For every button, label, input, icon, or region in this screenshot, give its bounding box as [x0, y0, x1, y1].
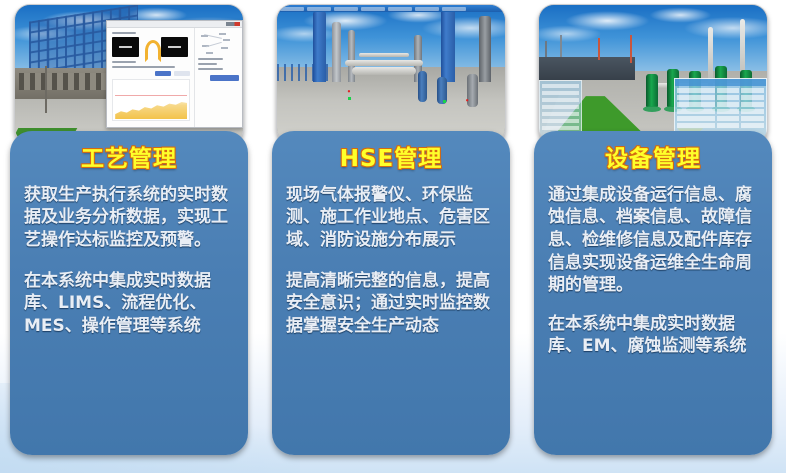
- dashboard-side-column: [194, 28, 241, 127]
- three-card-deck: 工艺管理 获取生产执行系统的实时数据及业务分析数据，实现工艺操作达标监控及预警。…: [0, 0, 786, 473]
- smoke-stack: [598, 38, 600, 60]
- horizontal-pipe: [345, 60, 423, 66]
- panel-row: [542, 98, 579, 102]
- reset-button[interactable]: [174, 71, 190, 76]
- cell: [717, 88, 740, 93]
- process-management-thumbnail[interactable]: [14, 4, 244, 144]
- filter-row-label: [112, 66, 175, 68]
- card-body: 现场气体报警仪、环保监测、施工作业地点、危害区域、消防设施分布展示 提高清晰完整…: [286, 184, 496, 338]
- card-title: 设备管理: [548, 145, 758, 174]
- kpi-tile: [112, 37, 139, 57]
- panel-row: [542, 105, 579, 109]
- card-hse-management[interactable]: ● ● HSE管理 现场气体报警仪、环保监测、施工作业地点、危害区域、消防设施: [272, 0, 510, 473]
- status-dot-green: [443, 100, 446, 103]
- chart-area-series: [115, 96, 187, 119]
- scene-toolbar[interactable]: [277, 5, 505, 12]
- side-label: [198, 68, 222, 70]
- table-row: [677, 88, 764, 93]
- equipment-management-thumbnail[interactable]: [538, 4, 768, 144]
- hse-management-thumbnail[interactable]: ● ●: [276, 4, 506, 144]
- cell: [677, 102, 715, 107]
- toolbar-item[interactable]: [334, 7, 358, 11]
- table-row: [677, 95, 764, 100]
- cell: [717, 102, 740, 107]
- cell: [741, 116, 764, 121]
- scene-3d-plant-with-dashboard: [15, 5, 243, 143]
- alarm-tag: ●: [348, 89, 351, 93]
- storage-tank: [418, 71, 427, 101]
- toolbar-item[interactable]: [307, 7, 331, 11]
- node: [202, 45, 209, 47]
- toolbar-item[interactable]: [415, 7, 439, 11]
- card-paragraph: 在本系统中集成实时数据库、EM、腐蚀监测等系统: [548, 313, 758, 358]
- node: [223, 39, 230, 41]
- green-pump-unit: [646, 74, 658, 107]
- card-paragraph: 提高清晰完整的信息，提高安全意识；通过实时监控数据掌握安全生产动态: [286, 270, 496, 338]
- window-body: [107, 28, 242, 127]
- cell: [677, 123, 715, 128]
- kpi-tile: [161, 37, 188, 57]
- smoke-stack: [630, 35, 632, 63]
- kpi-tile-row: [112, 37, 190, 57]
- table-row: [677, 109, 764, 114]
- side-primary-button[interactable]: [210, 75, 238, 81]
- network-node-diagram: [198, 32, 238, 58]
- alarm-tag: ●: [466, 98, 469, 102]
- toolbar-item[interactable]: [388, 7, 412, 11]
- side-label: [198, 63, 216, 65]
- card-body: 通过集成设备运行信息、腐蚀信息、档案信息、故障信息、检维修信息及配件库存信息实现…: [548, 184, 758, 358]
- gray-column: [332, 22, 341, 83]
- card-process-management[interactable]: 工艺管理 获取生产执行系统的实时数据及业务分析数据，实现工艺操作达标监控及预警。…: [10, 0, 248, 473]
- cell: [741, 109, 764, 114]
- node: [201, 35, 208, 37]
- toolbar-item[interactable]: [442, 7, 466, 11]
- cell: [717, 109, 740, 114]
- storage-tank: [467, 74, 478, 107]
- scene-3d-pumps-with-table: [539, 5, 767, 143]
- filter-button-row[interactable]: [112, 71, 190, 76]
- card-paragraph: 现场气体报警仪、环保监测、施工作业地点、危害区域、消防设施分布展示: [286, 184, 496, 252]
- horizontal-pipe: [359, 53, 409, 57]
- card-title: 工艺管理: [24, 145, 234, 174]
- side-label: [198, 58, 222, 60]
- cell: [741, 88, 764, 93]
- cell: [677, 109, 715, 114]
- toolbar-item[interactable]: [361, 7, 385, 11]
- cell: [717, 123, 740, 128]
- table-header: [675, 79, 766, 86]
- distillation-tower: [313, 11, 326, 83]
- trend-chart: [112, 79, 190, 121]
- table-row: [677, 102, 764, 107]
- process-management-panel: 工艺管理 获取生产执行系统的实时数据及业务分析数据，实现工艺操作达标监控及预警。…: [10, 131, 248, 455]
- panel-row: [542, 91, 579, 95]
- panel-row: [542, 112, 579, 116]
- card-paragraph: 在本系统中集成实时数据库、LIMS、流程优化、MES、操作管理等系统: [24, 270, 234, 338]
- dashboard-window[interactable]: [106, 20, 243, 128]
- cell: [677, 116, 715, 121]
- table-row: [677, 116, 764, 121]
- panel-row: [542, 126, 579, 130]
- equipment-management-panel: 设备管理 通过集成设备运行信息、腐蚀信息、档案信息、故障信息、检维修信息及配件库…: [534, 131, 772, 455]
- card-title: HSE管理: [286, 145, 496, 174]
- status-dot-green: [348, 97, 351, 100]
- panel-row: [542, 119, 579, 123]
- cell: [717, 95, 740, 100]
- card-body: 获取生产执行系统的实时数据及业务分析数据，实现工艺操作达标监控及预警。 在本系统…: [24, 184, 234, 338]
- card-paragraph: 通过集成设备运行信息、腐蚀信息、档案信息、故障信息、检维修信息及配件库存信息实现…: [548, 184, 758, 297]
- distillation-tower: [441, 5, 455, 82]
- window-titlebar: [107, 21, 242, 28]
- apply-button[interactable]: [155, 71, 171, 76]
- cell: [677, 88, 715, 93]
- cell: [717, 116, 740, 121]
- cell: [741, 95, 764, 100]
- cell: [741, 102, 764, 107]
- section-label: [112, 32, 135, 34]
- card-equipment-management[interactable]: 设备管理 通过集成设备运行信息、腐蚀信息、档案信息、故障信息、检维修信息及配件库…: [534, 0, 772, 473]
- cell: [741, 123, 764, 128]
- table-row: [677, 123, 764, 128]
- light-pole: [45, 66, 47, 113]
- cell: [677, 95, 715, 100]
- panel-row: [542, 84, 579, 88]
- scene-3d-refinery: ● ●: [277, 5, 505, 143]
- section-label: [112, 61, 135, 63]
- hse-management-panel: HSE管理 现场气体报警仪、环保监测、施工作业地点、危害区域、消防设施分布展示 …: [272, 131, 510, 455]
- gray-vessel: [479, 16, 491, 82]
- horizontal-vessel: [352, 67, 416, 75]
- node: [221, 47, 228, 49]
- dashboard-main-column: [107, 28, 194, 127]
- node: [206, 52, 213, 54]
- node: [219, 33, 226, 35]
- card-paragraph: 获取生产执行系统的实时数据及业务分析数据，实现工艺操作达标监控及预警。: [24, 184, 234, 252]
- toolbar-item[interactable]: [280, 7, 304, 11]
- distant-plant-block: [539, 57, 635, 79]
- arc-gauge: [144, 37, 157, 57]
